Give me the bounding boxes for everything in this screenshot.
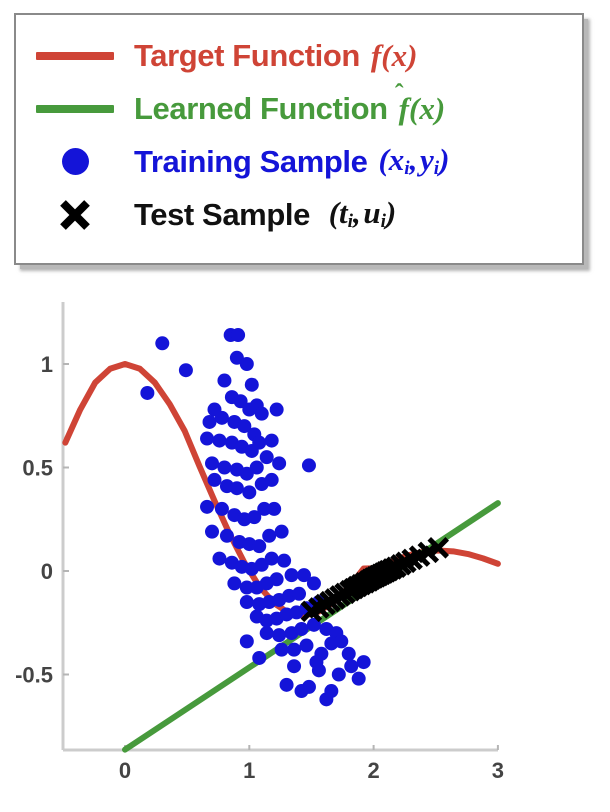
training-sample-point [155,336,169,350]
red-line-swatch-icon [36,52,114,60]
black-cross-marker-icon [60,200,90,230]
training-sample-point [267,502,281,516]
training-sample-point [299,639,313,653]
training-sample-point [312,663,326,677]
training-sample-point [324,684,338,698]
training-sample-point [240,634,254,648]
training-sample-point [292,587,306,601]
training-sample-point [285,568,299,582]
training-sample-point [287,643,301,657]
training-sample-point [255,407,269,421]
training-sample-point [252,651,266,665]
legend-math-training-sample: (xi, yi) [378,142,449,180]
legend-row-learned-function: Learned Function ̂f(x) [16,82,582,135]
training-sample-point [352,672,366,686]
training-sample-point [231,328,245,342]
training-sample-point [260,626,274,640]
legend-row-target-function: Target Function f(x) [16,29,582,82]
training-sample-point [270,572,284,586]
training-sample-point [332,668,346,682]
training-sample-point [208,473,222,487]
test-sample-points [302,539,447,621]
training-sample-point [200,432,214,446]
training-sample-point [252,539,266,553]
training-sample-point [230,481,244,495]
training-sample-point [140,386,154,400]
training-sample-point [252,436,266,450]
training-sample-point [342,647,356,661]
x-tick-label: 0 [119,758,131,783]
training-sample-point [272,628,286,642]
training-sample-point [217,374,231,388]
y-tick-label: 1 [41,352,53,377]
training-sample-point [275,525,289,539]
legend-row-training-sample: Training Sample (xi, yi) [16,135,582,188]
x-tick-label: 1 [243,758,255,783]
training-sample-point [203,415,217,429]
training-sample-point [334,634,348,648]
training-sample-point [344,659,358,673]
training-sample-point [265,434,279,448]
training-sample-point [242,485,256,499]
training-sample-point [217,461,231,475]
x-tick-label: 2 [367,758,379,783]
training-sample-point [295,622,309,636]
legend-marker-cell [16,148,134,175]
training-sample-point [280,678,294,692]
legend-label-test-sample: Test Sample [134,197,310,233]
legend-box: Target Function f(x) Learned Function ̂f… [14,13,584,265]
y-tick-label: -0.5 [15,663,53,688]
plot-canvas: 012310.50-0.5 [0,280,610,812]
x-tick-label: 3 [492,758,504,783]
legend-math-target-function: f(x) [371,38,417,74]
training-sample-point [227,576,241,590]
training-sample-point [295,684,309,698]
legend-row-test-sample: Test Sample (ti, ui) [16,188,582,241]
training-sample-point [212,552,226,566]
training-sample-point [275,643,289,657]
training-sample-points [140,328,370,706]
legend-math-learned-function: ̂f(x) [399,91,445,127]
legend-marker-cell [16,105,134,113]
scatter-plot: 012310.50-0.5 [0,280,610,812]
legend-marker-cell [16,52,134,60]
training-sample-point [357,655,371,669]
legend-marker-cell [16,200,134,230]
training-sample-point [302,458,316,472]
training-sample-point [240,357,254,371]
training-sample-point [272,456,286,470]
training-sample-point [215,502,229,516]
training-sample-point [265,552,279,566]
training-sample-point [205,525,219,539]
training-sample-point [307,576,321,590]
legend-label-training-sample: Training Sample [134,144,367,180]
training-sample-point [215,411,229,425]
training-sample-point [179,363,193,377]
training-sample-point [270,403,284,417]
training-sample-point [277,554,291,568]
training-sample-point [250,461,264,475]
training-sample-point [220,529,234,543]
training-sample-point [200,500,214,514]
training-sample-point [265,473,279,487]
y-tick-label: 0.5 [22,456,53,481]
training-sample-point [262,529,276,543]
training-sample-point [240,595,254,609]
training-sample-point [260,450,274,464]
legend-label-target-function: Target Function [134,38,360,74]
training-sample-point [245,378,259,392]
legend-label-learned-function: Learned Function [134,91,388,127]
y-tick-label: 0 [41,559,53,584]
green-line-swatch-icon [36,105,114,113]
training-sample-point [212,434,226,448]
legend-math-test-sample: (ti, ui) [321,195,396,233]
training-sample-point [287,659,301,673]
blue-dot-marker-icon [62,148,89,175]
training-sample-point [205,456,219,470]
